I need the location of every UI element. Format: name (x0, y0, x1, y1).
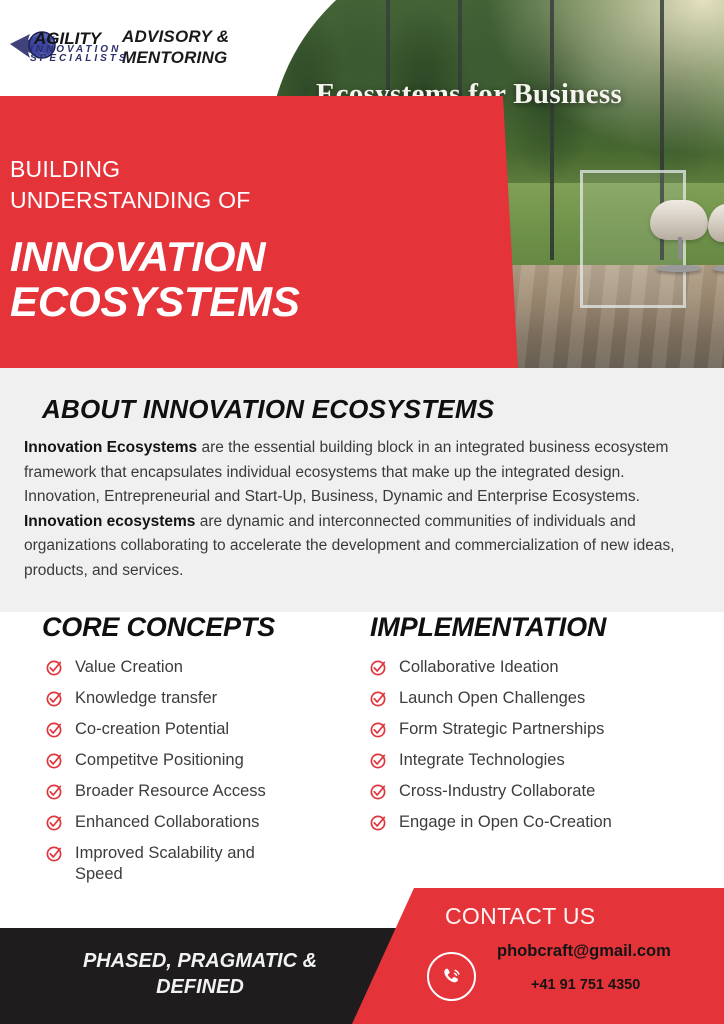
contact-email[interactable]: phobcraft@gmail.com (497, 942, 671, 961)
list-item-label: Knowledge transfer (75, 688, 217, 709)
office-chair (650, 200, 708, 272)
check-circle-icon (46, 814, 63, 831)
list-item[interactable]: Launch Open Challenges (370, 688, 720, 709)
list-item[interactable]: Collaborative Ideation (370, 657, 720, 678)
contact-heading: CONTACT US (445, 903, 595, 930)
check-circle-icon (370, 690, 387, 707)
hero-title: INNOVATION ECOSYSTEMS (10, 234, 430, 324)
list-item-label: Integrate Technologies (399, 750, 565, 771)
list-item[interactable]: Competitve Positioning (46, 750, 370, 771)
check-circle-icon (46, 752, 63, 769)
check-circle-icon (370, 721, 387, 738)
list-item[interactable]: Enhanced Collaborations (46, 812, 370, 833)
list-item[interactable]: Value Creation (46, 657, 370, 678)
list-item[interactable]: Broader Resource Access (46, 781, 370, 802)
logo-subtext-line2: SPECIALISTS (30, 53, 129, 64)
list-item[interactable]: Form Strategic Partnerships (370, 719, 720, 740)
poster-page: Ecosystems for Business BUILDING UNDERST… (0, 0, 724, 1024)
about-heading: ABOUT INNOVATION ECOSYSTEMS (42, 394, 494, 425)
contact-phone[interactable]: +41 91 751 4350 (531, 977, 640, 993)
list-item-label: Engage in Open Co-Creation (399, 812, 612, 833)
list-item-label: Form Strategic Partnerships (399, 719, 604, 740)
hero-kicker: BUILDING UNDERSTANDING OF (10, 154, 310, 216)
check-circle-icon (370, 659, 387, 676)
phone-ringing-icon[interactable] (427, 952, 476, 1001)
core-concepts-column: CORE CONCEPTS Value Creation Knowledge t… (40, 612, 370, 895)
logo-subtext: SPECIALISTS (30, 53, 129, 64)
list-item-label: Broader Resource Access (75, 781, 266, 802)
check-circle-icon (370, 814, 387, 831)
check-circle-icon (370, 783, 387, 800)
check-circle-icon (370, 752, 387, 769)
hero-section: Ecosystems for Business BUILDING UNDERST… (0, 0, 724, 368)
about-body: Innovation Ecosystems are the essential … (24, 436, 684, 583)
footer-tagline: PHASED, PRAGMATIC & DEFINED (0, 948, 400, 1000)
implementation-list: Collaborative Ideation Launch Open Chall… (370, 657, 720, 833)
list-item-label: Enhanced Collaborations (75, 812, 259, 833)
core-concepts-heading: CORE CONCEPTS (40, 612, 370, 643)
list-item-label: Competitve Positioning (75, 750, 244, 771)
list-item[interactable]: Engage in Open Co-Creation (370, 812, 720, 833)
hero-red-banner (0, 96, 520, 368)
list-item-label: Launch Open Challenges (399, 688, 585, 709)
check-circle-icon (46, 659, 63, 676)
implementation-column: IMPLEMENTATION Collaborative Ideation La… (370, 612, 720, 843)
about-para2-lead: Innovation ecosystems (24, 513, 195, 530)
list-item[interactable]: Co-creation Potential (46, 719, 370, 740)
list-item-label: Collaborative Ideation (399, 657, 559, 678)
list-item-label: Co-creation Potential (75, 719, 229, 740)
columns-section: CORE CONCEPTS Value Creation Knowledge t… (0, 612, 724, 928)
brand-header[interactable]: AGILITY INNOVATION SPECIALISTS ADVISORY … (8, 24, 229, 70)
implementation-heading: IMPLEMENTATION (370, 612, 720, 643)
list-item[interactable]: Cross-Industry Collaborate (370, 781, 720, 802)
list-item[interactable]: Knowledge transfer (46, 688, 370, 709)
check-circle-icon (46, 783, 63, 800)
list-item-label: Value Creation (75, 657, 183, 678)
list-item[interactable]: Improved Scalability and Speed (46, 843, 296, 885)
check-circle-icon (46, 690, 63, 707)
about-para1-lead: Innovation Ecosystems (24, 439, 197, 456)
core-concepts-list: Value Creation Knowledge transfer Co-cre… (40, 657, 370, 885)
check-circle-icon (46, 721, 63, 738)
office-chair (708, 204, 724, 272)
list-item[interactable]: Integrate Technologies (370, 750, 720, 771)
agility-logo-icon[interactable]: AGILITY INNOVATION SPECIALISTS (8, 24, 112, 70)
window-mullion (550, 0, 554, 260)
about-section: ABOUT INNOVATION ECOSYSTEMS Innovation E… (0, 368, 724, 612)
brand-tagline: ADVISORY & MENTORING (122, 26, 229, 68)
check-circle-icon (46, 845, 63, 862)
list-item-label: Improved Scalability and Speed (75, 843, 296, 885)
list-item-label: Cross-Industry Collaborate (399, 781, 595, 802)
